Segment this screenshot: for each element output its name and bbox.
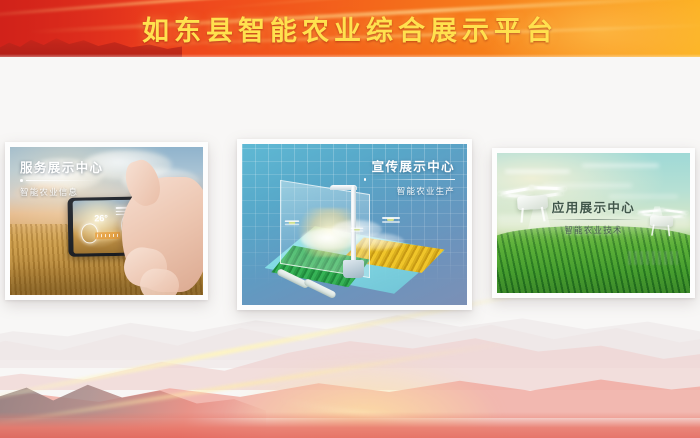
drone-icon (350, 226, 363, 232)
card-application-center-image: 应用展示中心 智能农业技术 (497, 153, 690, 293)
card-promotion-center-image: 宣传展示中心 智能农业生产 (242, 144, 467, 305)
cloud-shape (350, 233, 404, 251)
drone-icon (498, 181, 567, 220)
hud-data-chip-lines (97, 234, 118, 237)
divider-dot (20, 179, 23, 182)
drone-rotor (529, 186, 565, 190)
background-bottom-band (0, 412, 700, 438)
card-promotion-center[interactable]: 宣传展示中心 智能农业生产 (237, 139, 472, 310)
drone-icon (636, 206, 688, 235)
cloud-wisp (609, 195, 678, 198)
cloud-wisp (582, 164, 659, 167)
water-tank (343, 260, 363, 278)
cloud-wisp (505, 170, 571, 173)
card-service-center-image: 26° 服务展示中心 智能农业信息 (10, 147, 203, 295)
drone-icon (382, 215, 400, 223)
distant-skyline (628, 251, 678, 265)
hand-illustration (122, 177, 203, 292)
hud-data-chip (95, 232, 120, 239)
card-service-center[interactable]: 26° 服务展示中心 智能农业信息 (5, 142, 208, 300)
drone-icon (284, 219, 298, 225)
drone-rotor (660, 209, 688, 214)
page-title: 如东县智能农业综合展示平台 (0, 0, 700, 57)
hud-temperature-readout: 26° (94, 213, 108, 223)
header-banner: 如东县智能农业综合展示平台 (0, 0, 700, 57)
card-application-center[interactable]: 应用展示中心 智能农业技术 (492, 148, 695, 298)
app-root: 如东县智能农业综合展示平台 26° (0, 0, 700, 438)
